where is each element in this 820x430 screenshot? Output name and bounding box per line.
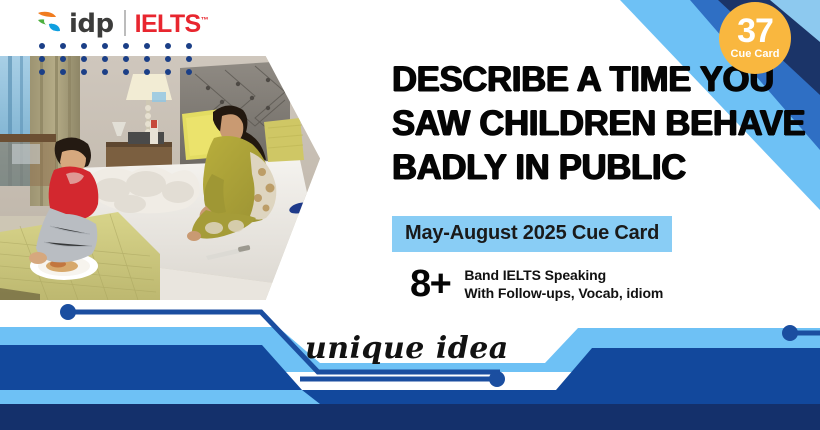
dot-grid-decoration (39, 43, 207, 82)
accent-dot-left (60, 304, 76, 320)
band-light-blue-strip (0, 390, 320, 404)
band-score-row: 8+ Band IELTS Speaking With Follow-ups, … (410, 265, 663, 303)
idp-ielts-logo: idp IELTS™ (36, 6, 208, 40)
accent-dot-wordmark (489, 371, 505, 387)
date-range-chip: May-August 2025 Cue Card (392, 216, 672, 252)
logo-divider (124, 10, 126, 36)
unique-idea-wordmark: unique idea (305, 334, 509, 364)
page-title: DESCRIBE A TIME YOU SAW CHILDREN BEHAVE … (392, 58, 792, 190)
hero-photo (0, 56, 320, 300)
accent-dot-right (782, 325, 798, 341)
band-desc-line-2: With Follow-ups, Vocab, idiom (464, 284, 663, 302)
cue-card-number-badge: 37 Cue Card (719, 2, 791, 74)
headline-line-3: BADLY IN PUBLIC (392, 146, 788, 190)
logo-ielts-text: IELTS™ (135, 12, 208, 37)
wordmark-text: unique idea (305, 331, 509, 366)
headline-line-1: DESCRIBE A TIME YOU (392, 58, 788, 102)
trademark-symbol: ™ (201, 15, 208, 24)
band-navy-bottom (0, 404, 820, 430)
headline-line-2: SAW CHILDREN BEHAVE (392, 102, 788, 146)
poster-canvas: idp IELTS™ (0, 0, 820, 430)
date-range-label: May-August 2025 Cue Card (405, 222, 659, 244)
badge-number: 37 (737, 16, 773, 47)
band-score-description: Band IELTS Speaking With Follow-ups, Voc… (464, 266, 663, 302)
logo-idp-text: idp (69, 11, 114, 37)
badge-label: Cue Card (731, 49, 780, 60)
band-desc-line-1: Band IELTS Speaking (464, 266, 663, 284)
idp-logo-mark-icon (36, 8, 66, 38)
band-score-value: 8+ (410, 265, 450, 303)
